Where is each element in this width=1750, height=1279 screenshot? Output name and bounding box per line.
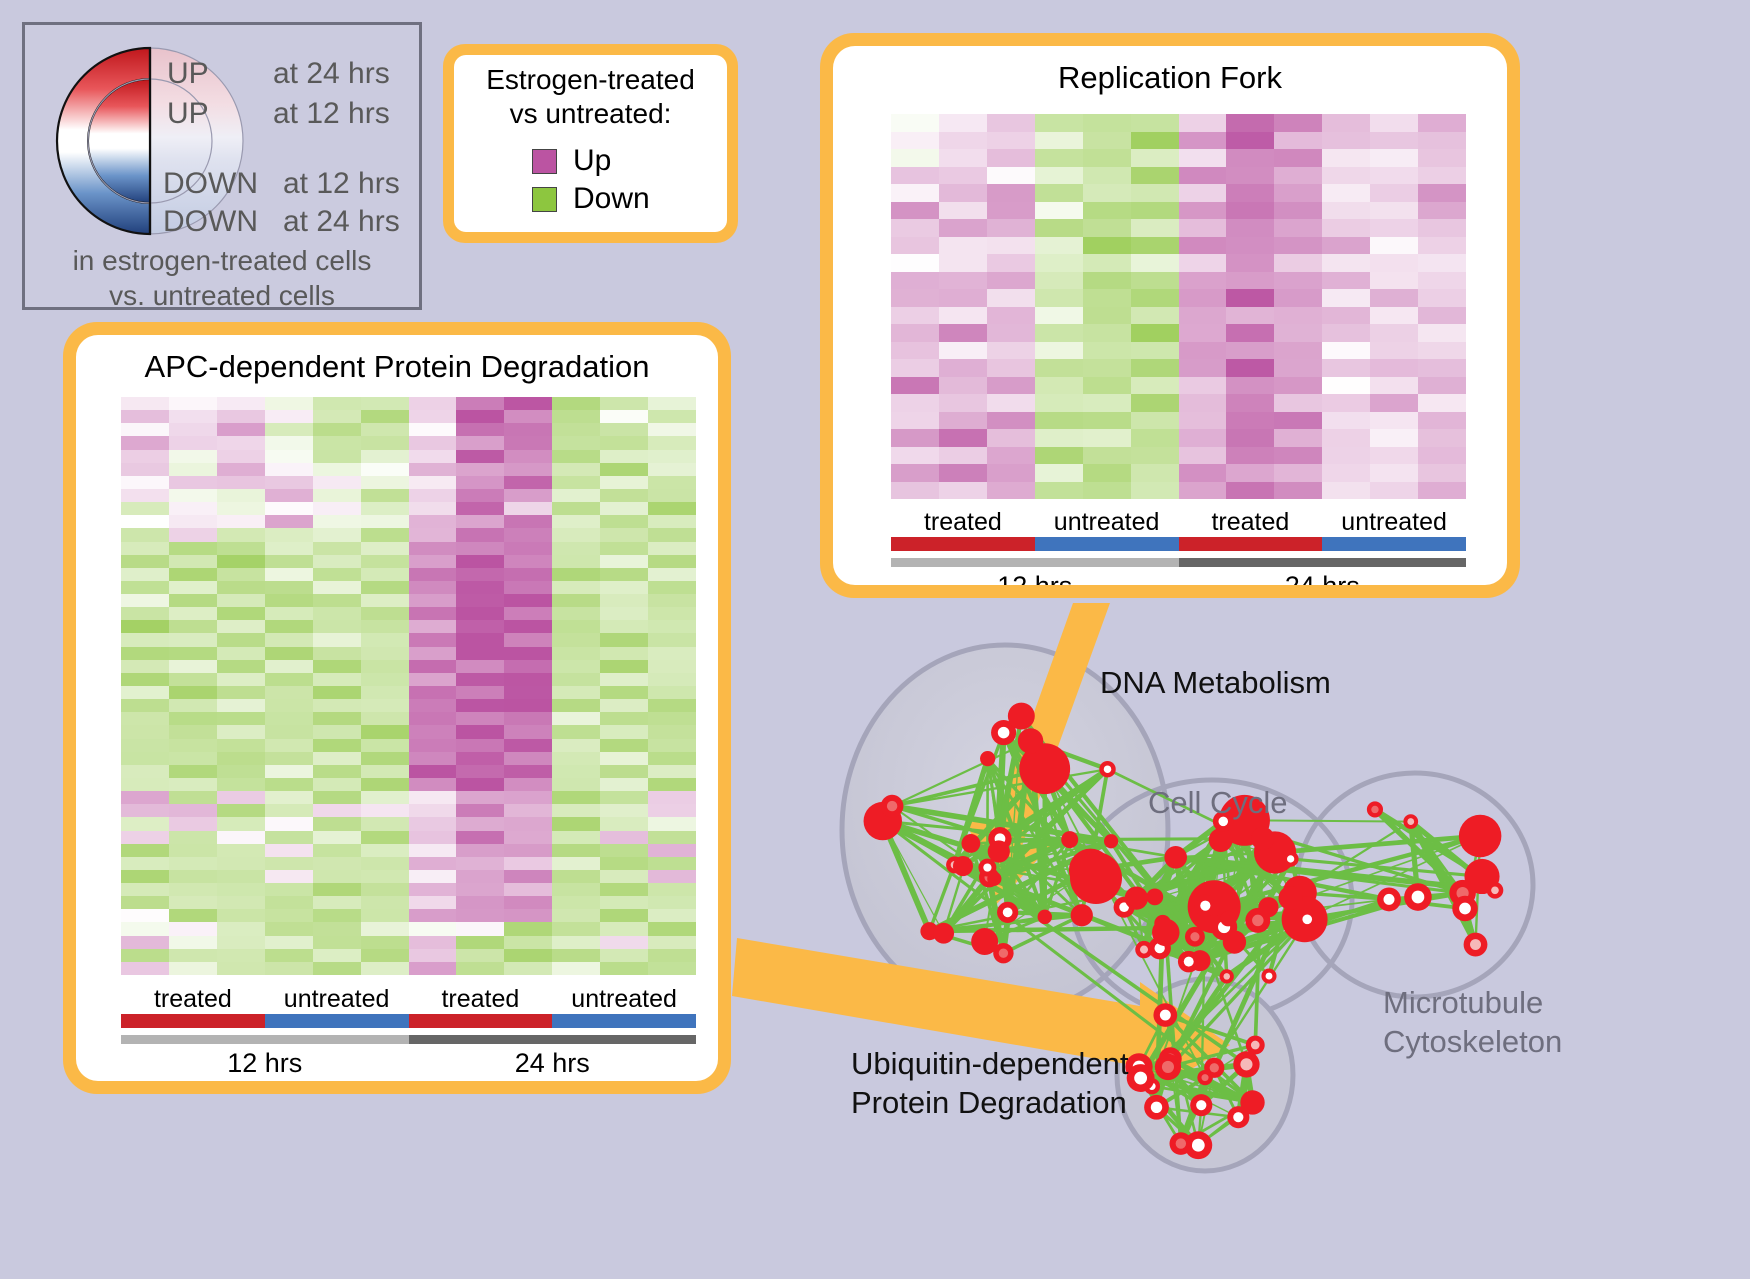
network-node-core (1407, 818, 1414, 825)
network-node-core (1287, 855, 1294, 862)
network-node[interactable] (1125, 886, 1148, 909)
network-node-core (1210, 1063, 1219, 1072)
network-node[interactable] (1164, 846, 1187, 869)
network-node[interactable] (1061, 831, 1078, 848)
network-node-core (1151, 1102, 1162, 1113)
network-node-core (1223, 973, 1230, 980)
network-node[interactable] (987, 872, 1001, 886)
network-node-core (1371, 806, 1378, 813)
figure-canvas: UP at 24 hrs UP at 12 hrs DOWN at 12 hrs… (0, 0, 1750, 1279)
network-node-core (1233, 1112, 1243, 1122)
network-node-core (1160, 1010, 1171, 1021)
network-node[interactable] (1223, 930, 1246, 953)
network-node[interactable] (1008, 703, 1035, 730)
network-label-microtubule-line1: Microtubule (1383, 984, 1562, 1023)
network-node[interactable] (1071, 904, 1093, 926)
network-node[interactable] (1251, 827, 1274, 850)
network-node[interactable] (988, 840, 1010, 862)
network-node-core (1252, 915, 1263, 926)
network-node[interactable] (1018, 728, 1043, 753)
network-node-core (998, 727, 1010, 739)
network-node[interactable] (1146, 888, 1163, 905)
network-node-core (1202, 1074, 1209, 1081)
network-node-core (1491, 886, 1499, 894)
network-node-core (1140, 946, 1148, 954)
network-node[interactable] (1278, 886, 1302, 910)
network-node[interactable] (1459, 815, 1502, 858)
network-node-core (1412, 891, 1425, 904)
network-node[interactable] (1152, 919, 1180, 947)
network-node-core (1470, 939, 1481, 950)
network-label-microtubule-line2: Cytoskeleton (1383, 1023, 1562, 1062)
network-node[interactable] (980, 751, 995, 766)
network-node[interactable] (933, 923, 954, 944)
network-node-core (1190, 932, 1199, 941)
network-label-microtubule-cytoskeleton: Microtubule Cytoskeleton (1383, 984, 1562, 1062)
network-node-core (1162, 1061, 1174, 1073)
network-label-dna-metabolism: DNA Metabolism (1100, 665, 1331, 701)
network-node-core (1176, 1138, 1186, 1148)
network-node-core (983, 863, 991, 871)
network-node-core (999, 948, 1008, 957)
network-node[interactable] (1038, 910, 1052, 924)
network-node-core (1003, 907, 1013, 917)
network-node-core (1384, 894, 1395, 905)
network-node[interactable] (1220, 911, 1236, 927)
network-node[interactable] (1258, 897, 1278, 917)
network-node[interactable] (1070, 852, 1122, 904)
network-node-core (1240, 1058, 1252, 1070)
network-node-core (1266, 973, 1273, 980)
network-node-core (887, 801, 897, 811)
network-node-core (1251, 1041, 1260, 1050)
network-node[interactable] (1104, 834, 1118, 848)
network-node-core (1200, 901, 1210, 911)
network-node[interactable] (961, 834, 980, 853)
network-node-core (1192, 1139, 1205, 1152)
network-node-core (1184, 957, 1194, 967)
network-node-core (1134, 1072, 1147, 1085)
network-label-ubiquitin-line1: Ubiquitin-dependent (851, 1045, 1129, 1084)
network-node-core (1196, 1100, 1206, 1110)
network-node[interactable] (1209, 828, 1233, 852)
network-label-ubiquitin-line2: Protein Degradation (851, 1084, 1129, 1123)
network-label-cell-cycle: Cell Cycle (1148, 785, 1288, 821)
network-node-core (1302, 914, 1312, 924)
network-node-core (1104, 765, 1112, 773)
network-label-ubiquitin-degradation: Ubiquitin-dependent Protein Degradation (851, 1045, 1129, 1123)
network-node[interactable] (953, 856, 973, 876)
network-node-core (1459, 903, 1471, 915)
